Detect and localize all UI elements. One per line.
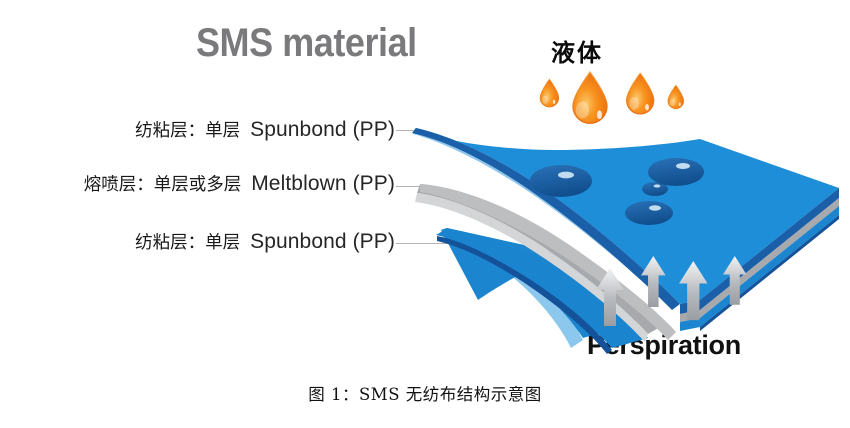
sms-structure-figure: SMS material 纺粘层：单层 Spunbond (PP) 熔喷层：单层… [0, 0, 850, 428]
droplet-icon [573, 72, 607, 123]
liquid-droplets [540, 72, 684, 123]
sms-layers-illustration [0, 0, 850, 428]
droplet-icon [668, 85, 684, 109]
droplet-icon [627, 73, 654, 114]
figure-caption: 图 1：SMS 无纺布结构示意图 [0, 381, 850, 405]
droplet-icon [540, 79, 559, 107]
